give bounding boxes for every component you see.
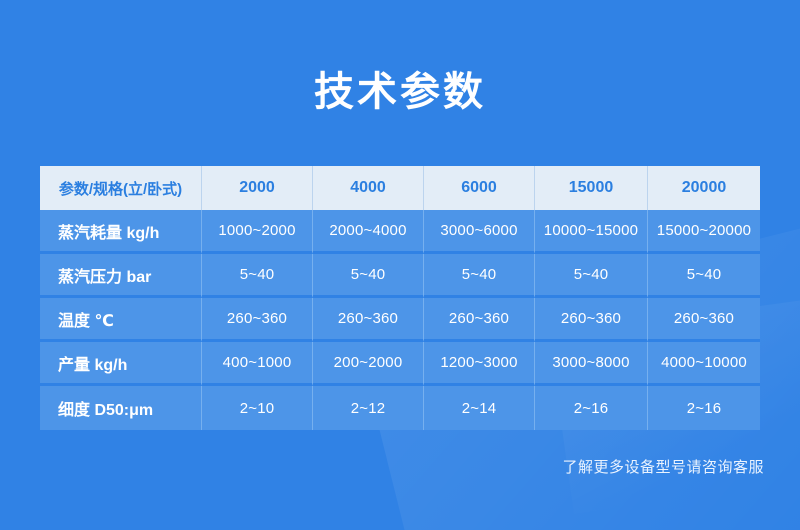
cell-steam-consumption-6000: 3000~6000 — [424, 210, 535, 254]
row-label-steam-pressure: 蒸汽压力 bar — [40, 254, 202, 298]
row-label-steam-consumption: 蒸汽耗量 kg/h — [40, 210, 202, 254]
cell-temperature-6000: 260~360 — [424, 298, 535, 342]
column-header-6000: 6000 — [424, 166, 535, 210]
row-label-output: 产量 kg/h — [40, 342, 202, 386]
cell-temperature-20000: 260~360 — [648, 298, 760, 342]
column-header-2000: 2000 — [202, 166, 313, 210]
cell-temperature-4000: 260~360 — [313, 298, 424, 342]
cell-steam-consumption-20000: 15000~20000 — [648, 210, 760, 254]
cell-fineness-15000: 2~16 — [535, 386, 648, 430]
page-title: 技术参数 — [0, 66, 800, 118]
cell-fineness-6000: 2~14 — [424, 386, 535, 430]
cell-fineness-4000: 2~12 — [313, 386, 424, 430]
table-row: 蒸汽压力 bar 5~40 5~40 5~40 5~40 5~40 — [40, 254, 760, 298]
cell-steam-pressure-2000: 5~40 — [202, 254, 313, 298]
cell-steam-pressure-6000: 5~40 — [424, 254, 535, 298]
cell-temperature-2000: 260~360 — [202, 298, 313, 342]
cell-output-2000: 400~1000 — [202, 342, 313, 386]
cell-output-15000: 3000~8000 — [535, 342, 648, 386]
cell-fineness-2000: 2~10 — [202, 386, 313, 430]
table-row: 温度 ℃ 260~360 260~360 260~360 260~360 260… — [40, 298, 760, 342]
footnote-contact-support: 了解更多设备型号请咨询客服 — [562, 456, 764, 477]
column-header-15000: 15000 — [535, 166, 648, 210]
spec-sheet-page: 技术参数 参数/规格(立/卧式) 2000 4000 6000 15000 20… — [0, 0, 800, 530]
row-label-fineness: 细度 D50:μm — [40, 386, 202, 430]
table-row: 蒸汽耗量 kg/h 1000~2000 2000~4000 3000~6000 … — [40, 210, 760, 254]
cell-steam-pressure-4000: 5~40 — [313, 254, 424, 298]
cell-steam-consumption-4000: 2000~4000 — [313, 210, 424, 254]
cell-steam-pressure-15000: 5~40 — [535, 254, 648, 298]
cell-fineness-20000: 2~16 — [648, 386, 760, 430]
table-header-row: 参数/规格(立/卧式) 2000 4000 6000 15000 20000 — [40, 166, 760, 210]
column-header-parameter: 参数/规格(立/卧式) — [40, 166, 202, 210]
cell-output-4000: 200~2000 — [313, 342, 424, 386]
column-header-20000: 20000 — [648, 166, 760, 210]
cell-temperature-15000: 260~360 — [535, 298, 648, 342]
spec-table-header: 参数/规格(立/卧式) 2000 4000 6000 15000 20000 — [40, 166, 760, 210]
row-label-temperature: 温度 ℃ — [40, 298, 202, 342]
spec-table-container: 参数/规格(立/卧式) 2000 4000 6000 15000 20000 蒸… — [40, 166, 760, 430]
table-row: 产量 kg/h 400~1000 200~2000 1200~3000 3000… — [40, 342, 760, 386]
cell-steam-consumption-2000: 1000~2000 — [202, 210, 313, 254]
table-row: 细度 D50:μm 2~10 2~12 2~14 2~16 2~16 — [40, 386, 760, 430]
spec-table: 参数/规格(立/卧式) 2000 4000 6000 15000 20000 蒸… — [40, 166, 760, 430]
column-header-4000: 4000 — [313, 166, 424, 210]
cell-output-20000: 4000~10000 — [648, 342, 760, 386]
cell-output-6000: 1200~3000 — [424, 342, 535, 386]
cell-steam-pressure-20000: 5~40 — [648, 254, 760, 298]
spec-table-body: 蒸汽耗量 kg/h 1000~2000 2000~4000 3000~6000 … — [40, 210, 760, 430]
cell-steam-consumption-15000: 10000~15000 — [535, 210, 648, 254]
